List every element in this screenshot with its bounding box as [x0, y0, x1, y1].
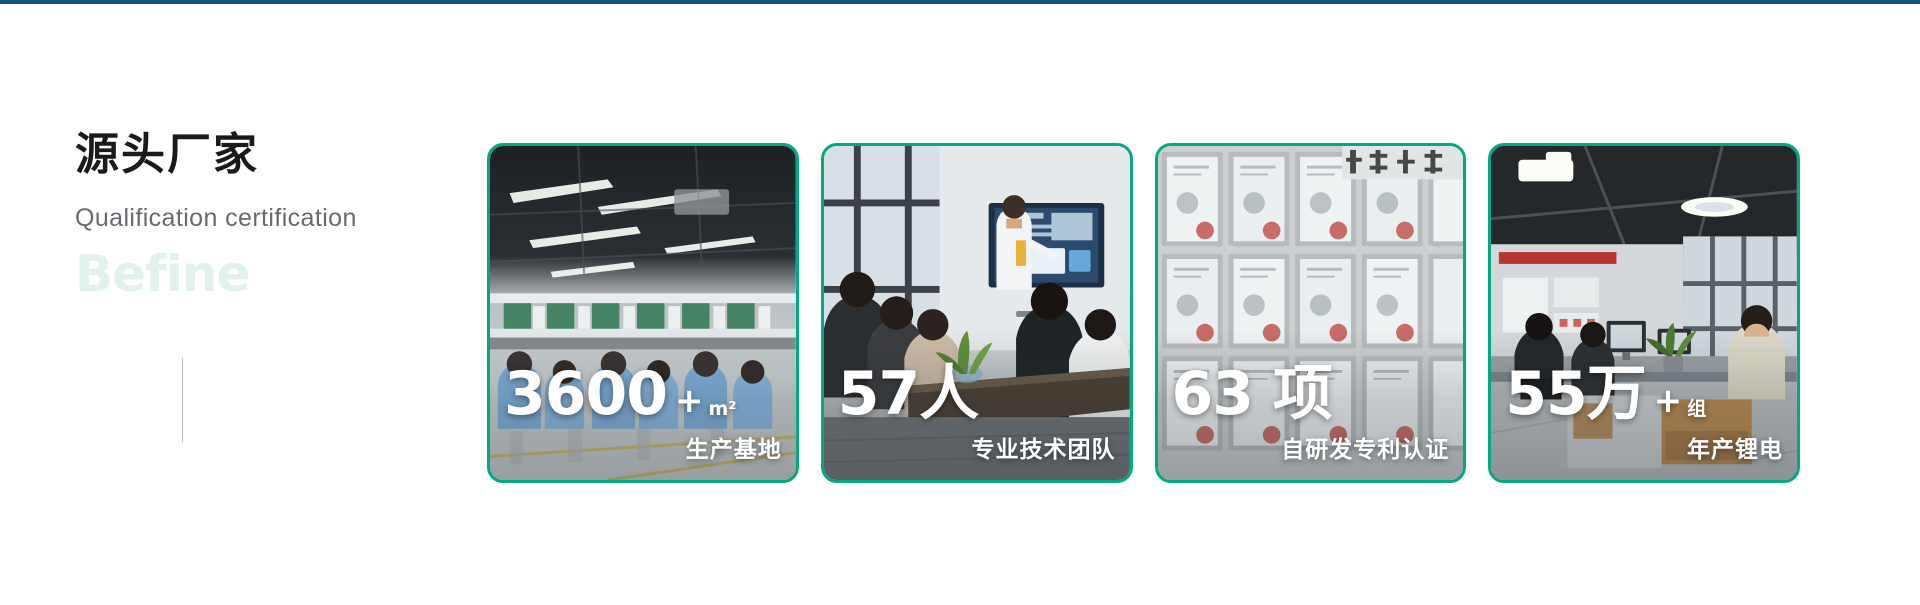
stat-value-line: 3600 + m² — [504, 366, 782, 424]
stat-block: 57人 专业技术团队 — [824, 366, 1130, 464]
stat-plus-sign: + — [675, 385, 704, 424]
page-subtitle: Qualification certification — [75, 203, 465, 233]
brand-watermark: Befine — [75, 249, 465, 299]
stat-label: 年产锂电 — [1505, 430, 1783, 464]
stat-label: 专业技术团队 — [838, 430, 1116, 464]
stat-block: 55万 + 组 年产锂电 — [1491, 366, 1797, 464]
stat-value: 63 项 — [1172, 366, 1332, 424]
stat-plus-sign: + — [1654, 385, 1683, 424]
stat-value: 57人 — [838, 366, 979, 424]
stat-label: 生产基地 — [504, 430, 782, 464]
stat-card-annual-output[interactable]: 55万 + 组 年产锂电 — [1488, 143, 1800, 483]
stat-label: 自研发专利认证 — [1172, 430, 1450, 464]
stat-card-patents[interactable]: 63 项 自研发专利认证 — [1155, 143, 1467, 483]
stat-block: 63 项 自研发专利认证 — [1158, 366, 1464, 464]
stat-value: 55万 — [1505, 366, 1646, 424]
stat-value-line: 55万 + 组 — [1505, 366, 1783, 424]
top-accent-bar — [0, 0, 1920, 4]
stats-card-row: 3600 + m² 生产基地 — [487, 143, 1800, 483]
stat-value: 3600 — [504, 366, 667, 424]
vertical-divider — [182, 358, 183, 442]
stat-unit: 组 — [1687, 400, 1706, 424]
left-heading-block: 源头厂家 Qualification certification Befine — [75, 130, 465, 299]
page-title: 源头厂家 — [75, 130, 465, 181]
stat-card-tech-team[interactable]: 57人 专业技术团队 — [821, 143, 1133, 483]
stat-unit: m² — [709, 400, 737, 424]
stat-value-line: 57人 — [838, 366, 1116, 424]
stat-block: 3600 + m² 生产基地 — [490, 366, 796, 464]
stat-card-production-base[interactable]: 3600 + m² 生产基地 — [487, 143, 799, 483]
stat-value-line: 63 项 — [1172, 366, 1450, 424]
